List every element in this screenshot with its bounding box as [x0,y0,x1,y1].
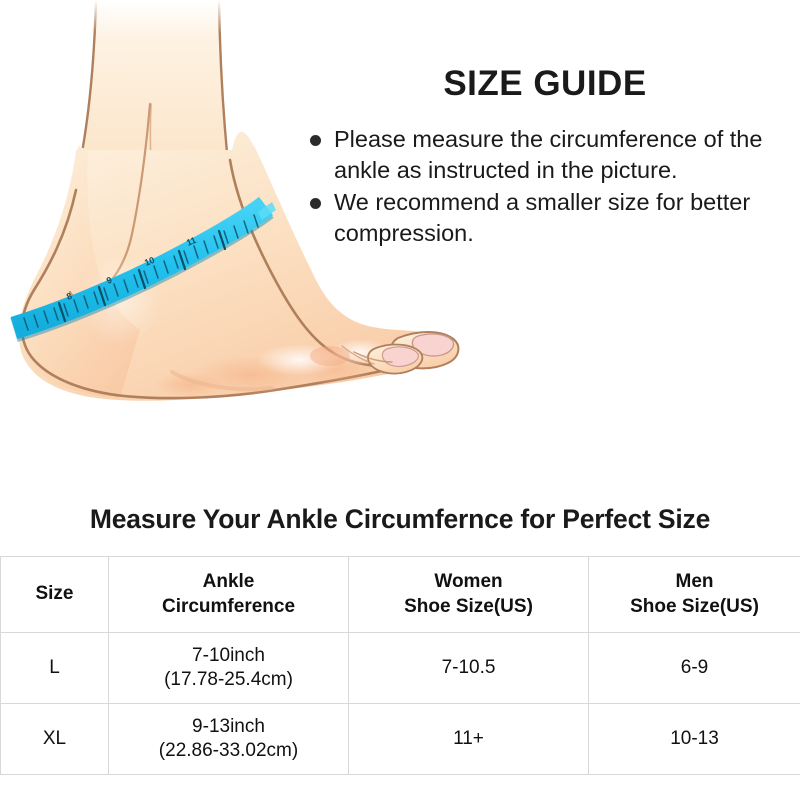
cell-ankle-circumference: 7-10inch (17.78-25.4cm) [109,633,349,704]
table-body: L 7-10inch (17.78-25.4cm) 7-10.5 6-9 XL [1,633,800,775]
size-guide-page: 8 9 10 11 SIZE GUIDE Please measure the … [0,0,800,800]
bullet-dot-icon [310,198,321,209]
instruction-bullet-2: We recommend a smaller size for better c… [308,187,800,250]
cell-men-shoe-size: 10-13 [589,704,800,775]
table-header: Size Ankle Circumference Women Shoe Size… [1,557,800,633]
column-header-circ-line2: Circumference [111,595,346,619]
size-guide-heading: SIZE GUIDE [300,66,800,101]
instruction-bullet-2-text: We recommend a smaller size for better c… [334,189,750,246]
instruction-bullet-list: Please measure the circumference of the … [300,124,800,249]
table-header-row: Size Ankle Circumference Women Shoe Size… [1,557,800,633]
cell-size-value: XL [3,727,106,751]
cell-size: XL [1,704,109,775]
cell-circ-inch: 9-13inch [111,715,346,739]
size-guide-text-panel: SIZE GUIDE Please measure the circumfere… [300,66,800,296]
table-row: L 7-10inch (17.78-25.4cm) 7-10.5 6-9 [1,633,800,704]
cell-circ-cm: (17.78-25.4cm) [111,668,346,692]
column-header-women-line1: Women [351,570,586,594]
cell-ankle-circumference: 9-13inch (22.86-33.02cm) [109,704,349,775]
column-header-women-line2: Shoe Size(US) [351,595,586,619]
cell-circ-inch: 7-10inch [111,644,346,668]
size-chart-table: Size Ankle Circumference Women Shoe Size… [0,556,800,775]
instruction-bullet-1: Please measure the circumference of the … [308,124,800,187]
column-header-size-line1: Size [3,582,106,606]
cell-men-value: 6-9 [591,656,798,680]
bullet-dot-icon [310,135,321,146]
cell-women-shoe-size: 7-10.5 [349,633,589,704]
cell-men-shoe-size: 6-9 [589,633,800,704]
cell-circ-cm: (22.86-33.02cm) [111,739,346,763]
cell-men-value: 10-13 [591,727,798,751]
cell-women-value: 7-10.5 [351,656,586,680]
column-header-ankle-circumference: Ankle Circumference [109,557,349,633]
cell-women-value: 11+ [351,727,586,751]
cell-women-shoe-size: 11+ [349,704,589,775]
column-header-size: Size [1,557,109,633]
cell-size: L [1,633,109,704]
column-header-men-shoe-size: Men Shoe Size(US) [589,557,800,633]
column-header-men-line2: Shoe Size(US) [591,595,798,619]
cell-size-value: L [3,656,106,680]
column-header-men-line1: Men [591,570,798,594]
instruction-bullet-1-text: Please measure the circumference of the … [334,126,762,183]
table-row: XL 9-13inch (22.86-33.02cm) 11+ 10-13 [1,704,800,775]
size-table-title: Measure Your Ankle Circumfernce for Perf… [0,504,800,535]
column-header-women-shoe-size: Women Shoe Size(US) [349,557,589,633]
column-header-circ-line1: Ankle [111,570,346,594]
